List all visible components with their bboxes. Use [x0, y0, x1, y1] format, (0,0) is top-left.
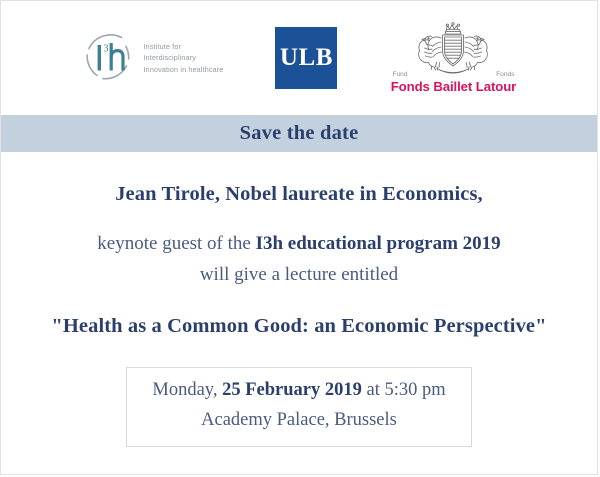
- banner-title: Save the date: [240, 122, 359, 145]
- announcement-body: Jean Tirole, Nobel laureate in Economics…: [1, 152, 597, 447]
- baillet-latour-crest-icon: [401, 22, 505, 74]
- event-venue: Academy Palace, Brussels: [147, 407, 451, 434]
- event-day-prefix: Monday,: [152, 380, 222, 400]
- speaker-line: Jean Tirole, Nobel laureate in Economics…: [1, 183, 597, 206]
- save-the-date-poster: 3 Institute for Interdisciplinary Innova…: [0, 0, 598, 475]
- program-prefix: keynote guest of the: [97, 233, 255, 254]
- baillet-latour-name: Fonds Baillet Latour: [391, 79, 516, 94]
- program-name: I3h educational program 2019: [256, 233, 501, 254]
- i3h-tagline-line-1: Institute for: [144, 41, 224, 53]
- logo-ulb: ULB: [275, 27, 337, 89]
- baillet-latour-label-fund: Fund: [392, 71, 407, 78]
- details-wrapper: Monday, 25 February 2019 at 5:30 pm Acad…: [1, 367, 597, 447]
- logo-baillet-latour: Fund Fonds Fonds Baillet Latour: [389, 22, 517, 94]
- baillet-latour-label-fonds: Fonds: [496, 71, 514, 78]
- lecture-title: "Health as a Common Good: an Economic Pe…: [1, 315, 597, 338]
- logo-i3h: 3 Institute for Interdisciplinary Innova…: [81, 29, 224, 87]
- program-line: keynote guest of the I3h educational pro…: [1, 233, 597, 255]
- lecture-intro-line: will give a lecture entitled: [1, 264, 597, 286]
- i3h-tagline-line-3: Innovation in healthcare: [144, 64, 224, 76]
- event-details-box: Monday, 25 February 2019 at 5:30 pm Acad…: [126, 367, 472, 447]
- svg-text:3: 3: [103, 44, 108, 55]
- save-the-date-banner: Save the date: [1, 115, 597, 152]
- logo-strip: 3 Institute for Interdisciplinary Innova…: [1, 1, 597, 115]
- i3h-tagline: Institute for Interdisciplinary Innovati…: [144, 41, 224, 76]
- baillet-latour-sublabels: Fund Fonds: [389, 71, 517, 78]
- event-date: 25 February 2019: [222, 380, 362, 400]
- i3h-tagline-line-2: Interdisciplinary: [144, 52, 224, 64]
- i3h-logo-icon: 3: [81, 29, 135, 87]
- event-time: at 5:30 pm: [362, 380, 446, 400]
- event-datetime: Monday, 25 February 2019 at 5:30 pm: [147, 377, 451, 405]
